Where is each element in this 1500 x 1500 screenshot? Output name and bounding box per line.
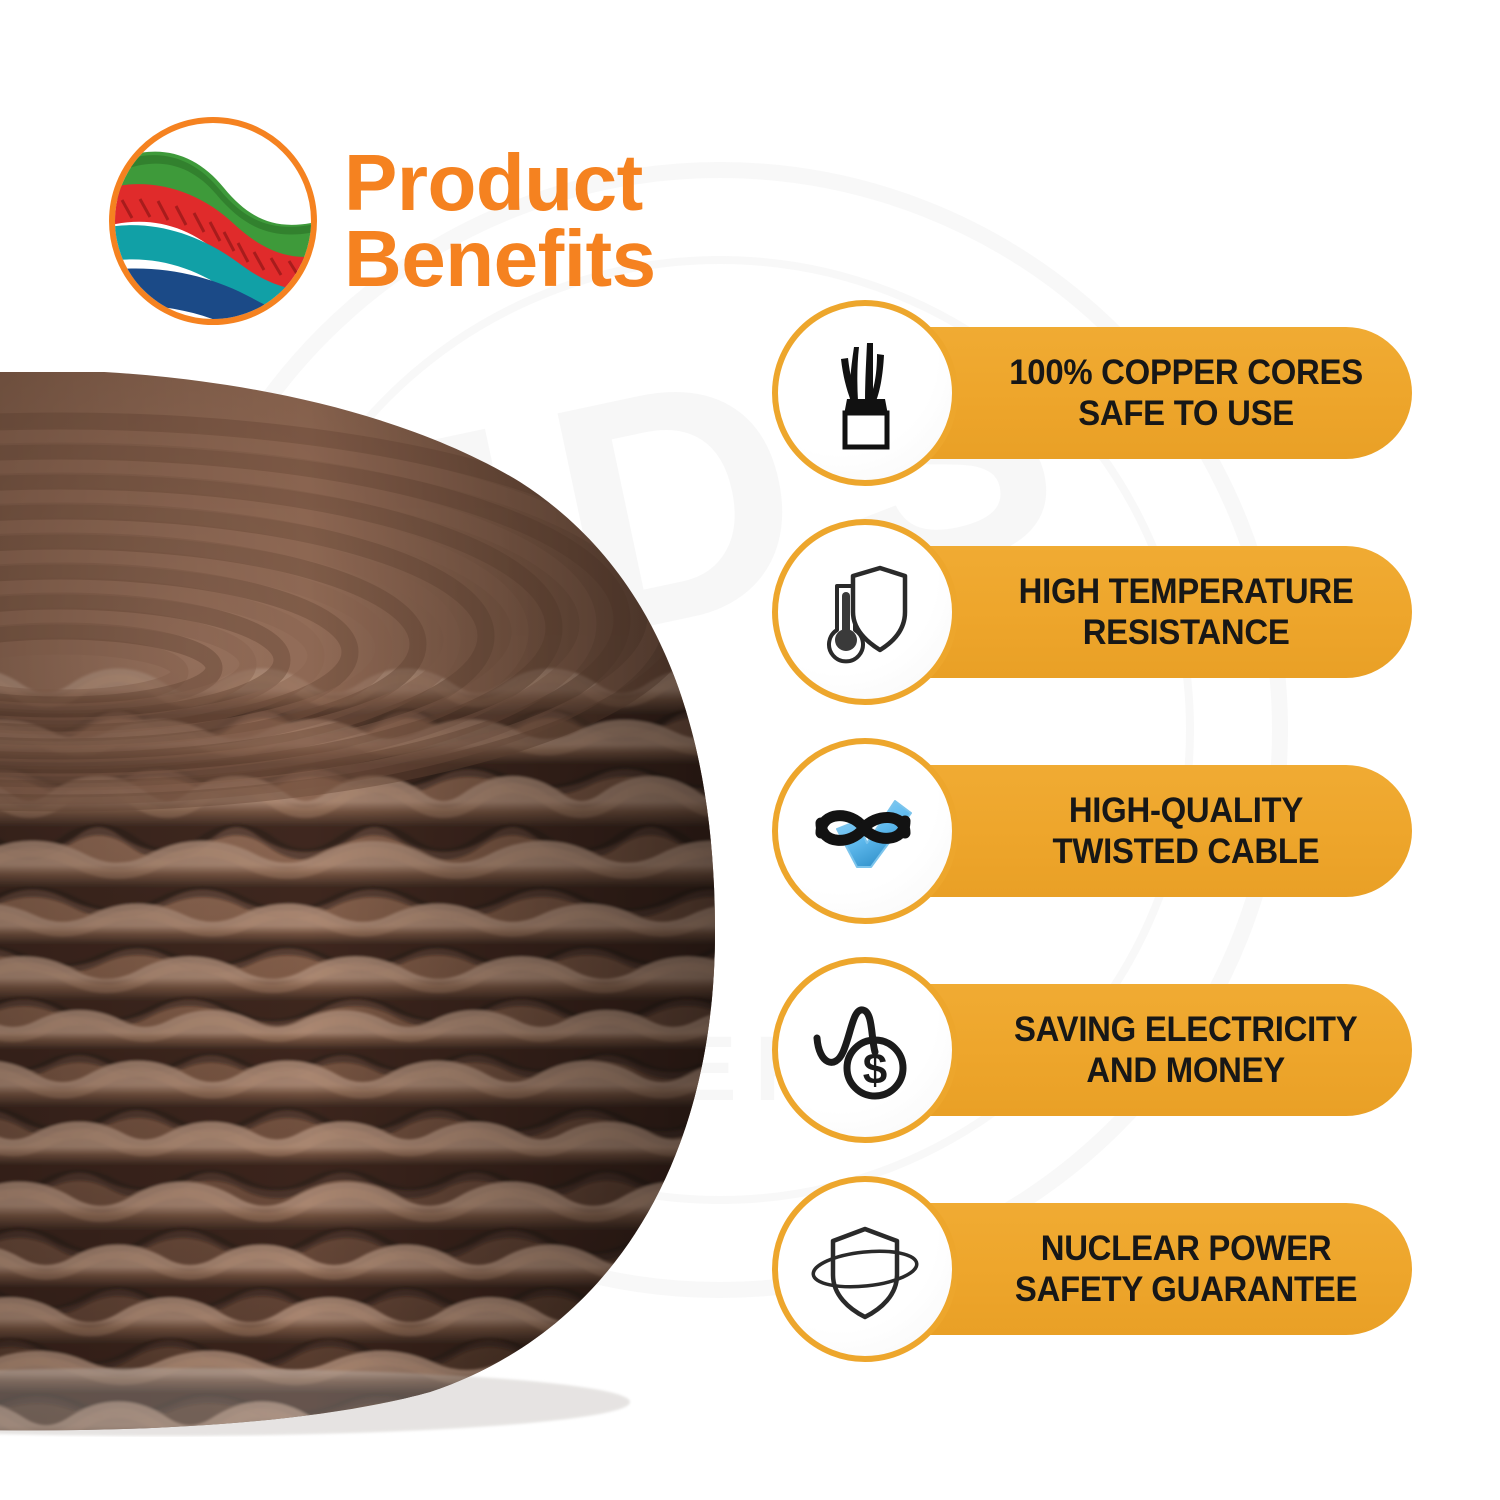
benefit-label: NUCLEAR POWER SAFETY GUARANTEE bbox=[1015, 1228, 1357, 1311]
benefit-icon-circle bbox=[772, 300, 958, 486]
wave-dollar-coin-icon: $ bbox=[805, 990, 925, 1110]
benefit-item-saving-electricity[interactable]: SAVING ELECTRICITY AND MONEY $ bbox=[772, 957, 1412, 1143]
thermometer-shield-icon bbox=[805, 552, 925, 672]
benefit-icon-circle bbox=[772, 738, 958, 924]
stripped-cable-icon bbox=[805, 333, 925, 453]
product-image-cable-coil bbox=[0, 372, 760, 1437]
benefit-icon-circle: $ bbox=[772, 957, 958, 1143]
benefit-label: 100% COPPER CORES SAFE TO USE bbox=[1009, 352, 1363, 435]
svg-text:$: $ bbox=[863, 1045, 887, 1094]
benefit-item-nuclear-safety[interactable]: NUCLEAR POWER SAFETY GUARANTEE bbox=[772, 1176, 1412, 1362]
benefit-item-temperature-resistance[interactable]: HIGH TEMPERATURE RESISTANCE bbox=[772, 519, 1412, 705]
benefit-label: HIGH TEMPERATURE RESISTANCE bbox=[1019, 571, 1354, 654]
brand-logo-icon bbox=[104, 112, 322, 330]
benefit-label: HIGH-QUALITY TWISTED CABLE bbox=[1053, 790, 1320, 873]
twisted-cable-check-icon bbox=[805, 771, 925, 891]
header: Product Benefits bbox=[104, 112, 656, 330]
benefit-icon-circle bbox=[772, 1176, 958, 1362]
benefit-label: SAVING ELECTRICITY AND MONEY bbox=[1014, 1009, 1357, 1092]
benefit-item-twisted-cable[interactable]: HIGH-QUALITY TWISTED CABLE bbox=[772, 738, 1412, 924]
page-title: Product Benefits bbox=[344, 145, 656, 297]
benefit-icon-circle bbox=[772, 519, 958, 705]
shield-orbit-icon bbox=[805, 1209, 925, 1329]
benefits-list: 100% COPPER CORES SAFE TO USE HIGH TEMPE… bbox=[772, 300, 1412, 1362]
benefit-item-copper-cores[interactable]: 100% COPPER CORES SAFE TO USE bbox=[772, 300, 1412, 486]
